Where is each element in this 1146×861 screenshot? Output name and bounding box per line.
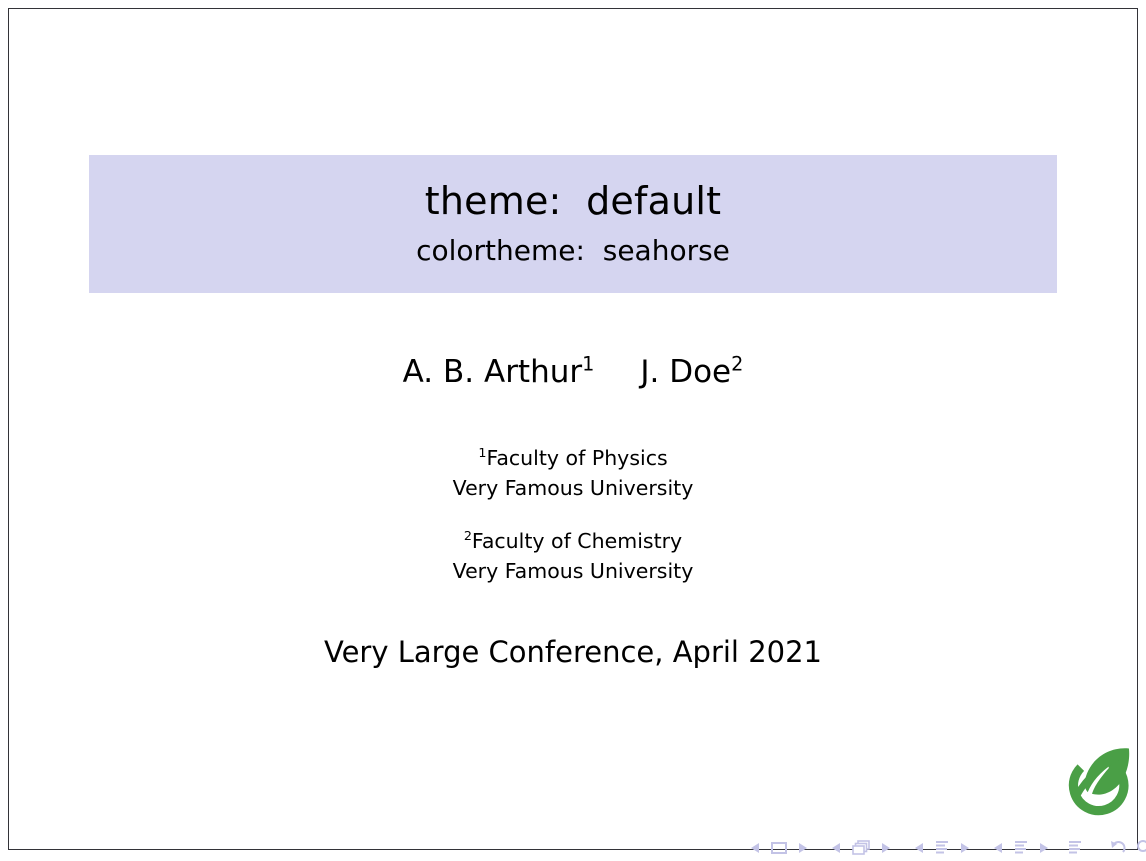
slide-title: theme: default xyxy=(425,182,721,222)
slide-subtitle: colortheme: seahorse xyxy=(416,236,730,265)
affiliation-department: Faculty of Chemistry xyxy=(472,529,682,553)
affiliation-department-line: 2Faculty of Chemistry xyxy=(9,526,1137,556)
search-icon[interactable] xyxy=(1135,839,1146,857)
subsection-prev-icon[interactable] xyxy=(914,842,924,854)
section-prev-icon[interactable] xyxy=(993,842,1003,854)
nav-group-subsection[interactable] xyxy=(909,839,975,857)
nav-group-slide[interactable] xyxy=(745,840,813,856)
slide-next-icon[interactable] xyxy=(798,842,808,854)
author-affiliation-marker: 2 xyxy=(731,353,743,376)
author-list: A. B. Arthur1J. Doe2 xyxy=(9,354,1137,390)
affiliation-department: Faculty of Physics xyxy=(486,446,667,470)
author-item: J. Doe2 xyxy=(640,354,743,390)
section-next-icon[interactable] xyxy=(1039,842,1049,854)
frame-next-icon[interactable] xyxy=(881,842,891,854)
document-icon[interactable] xyxy=(1067,839,1083,857)
affiliation-organization: Very Famous University xyxy=(9,556,1137,586)
slide-prev-icon[interactable] xyxy=(750,842,760,854)
frames-stack-icon[interactable] xyxy=(851,839,871,857)
author-name: J. Doe xyxy=(640,354,731,390)
affiliation-organization: Very Famous University xyxy=(9,473,1137,503)
conference-date: Very Large Conference, April 2021 xyxy=(9,635,1137,669)
nav-group-section[interactable] xyxy=(988,839,1054,857)
author-item: A. B. Arthur1 xyxy=(403,354,595,390)
subsection-next-icon[interactable] xyxy=(960,842,970,854)
affiliation-list: 1Faculty of Physics Very Famous Universi… xyxy=(9,443,1137,586)
author-name: A. B. Arthur xyxy=(403,354,583,390)
affiliation-marker: 2 xyxy=(464,528,472,543)
beamer-navigation-bar[interactable] xyxy=(745,835,1135,861)
beamer-slide-frame: theme: default colortheme: seahorse A. B… xyxy=(8,8,1138,850)
back-icon[interactable] xyxy=(1109,839,1127,857)
affiliation-item: 2Faculty of Chemistry Very Famous Univer… xyxy=(9,526,1137,587)
frame-icon[interactable] xyxy=(770,840,788,856)
author-affiliation-marker: 1 xyxy=(582,353,594,376)
affiliation-item: 1Faculty of Physics Very Famous Universi… xyxy=(9,443,1137,504)
overleaf-logo xyxy=(1055,735,1139,819)
section-icon[interactable] xyxy=(1013,839,1029,857)
title-block: theme: default colortheme: seahorse xyxy=(89,155,1057,293)
affiliation-department-line: 1Faculty of Physics xyxy=(9,443,1137,473)
nav-group-frame[interactable] xyxy=(826,839,896,857)
frame-prev-icon[interactable] xyxy=(831,842,841,854)
subsection-icon[interactable] xyxy=(934,839,950,857)
